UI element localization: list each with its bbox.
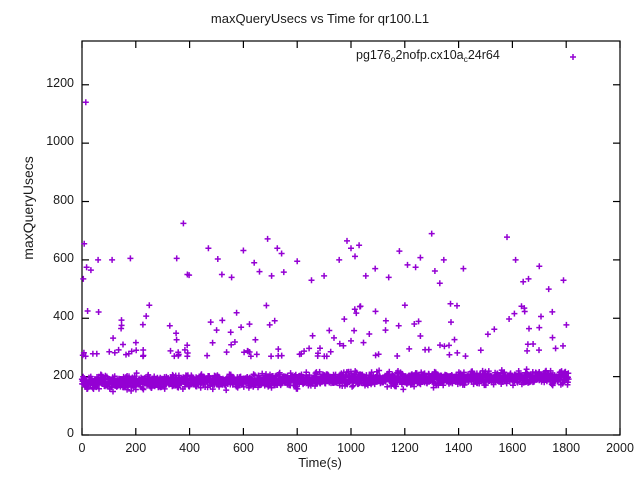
x-tick-label: 1000 xyxy=(321,441,381,455)
y-tick-label: 200 xyxy=(20,368,74,382)
x-tick-label: 200 xyxy=(106,441,166,455)
x-tick-label: 400 xyxy=(160,441,220,455)
y-tick-label: 400 xyxy=(20,309,74,323)
y-tick-label: 800 xyxy=(20,193,74,207)
x-tick-label: 1200 xyxy=(375,441,435,455)
x-tick-label: 2000 xyxy=(590,441,640,455)
y-tick-label: 600 xyxy=(20,251,74,265)
chart-canvas: maxQueryUsecs vs Time for qr100.L1 maxQu… xyxy=(0,0,640,480)
x-tick-label: 1800 xyxy=(536,441,596,455)
legend-marker xyxy=(570,54,576,60)
x-tick-label: 800 xyxy=(267,441,327,455)
y-tick-label: 0 xyxy=(20,426,74,440)
x-tick-label: 1600 xyxy=(482,441,542,455)
y-tick-label: 1000 xyxy=(20,134,74,148)
scatter-plot-area xyxy=(0,0,640,480)
x-tick-label: 0 xyxy=(52,441,112,455)
y-tick-label: 1200 xyxy=(20,76,74,90)
data-point-layer xyxy=(79,99,572,394)
x-tick-label: 1400 xyxy=(429,441,489,455)
x-tick-label: 600 xyxy=(213,441,273,455)
